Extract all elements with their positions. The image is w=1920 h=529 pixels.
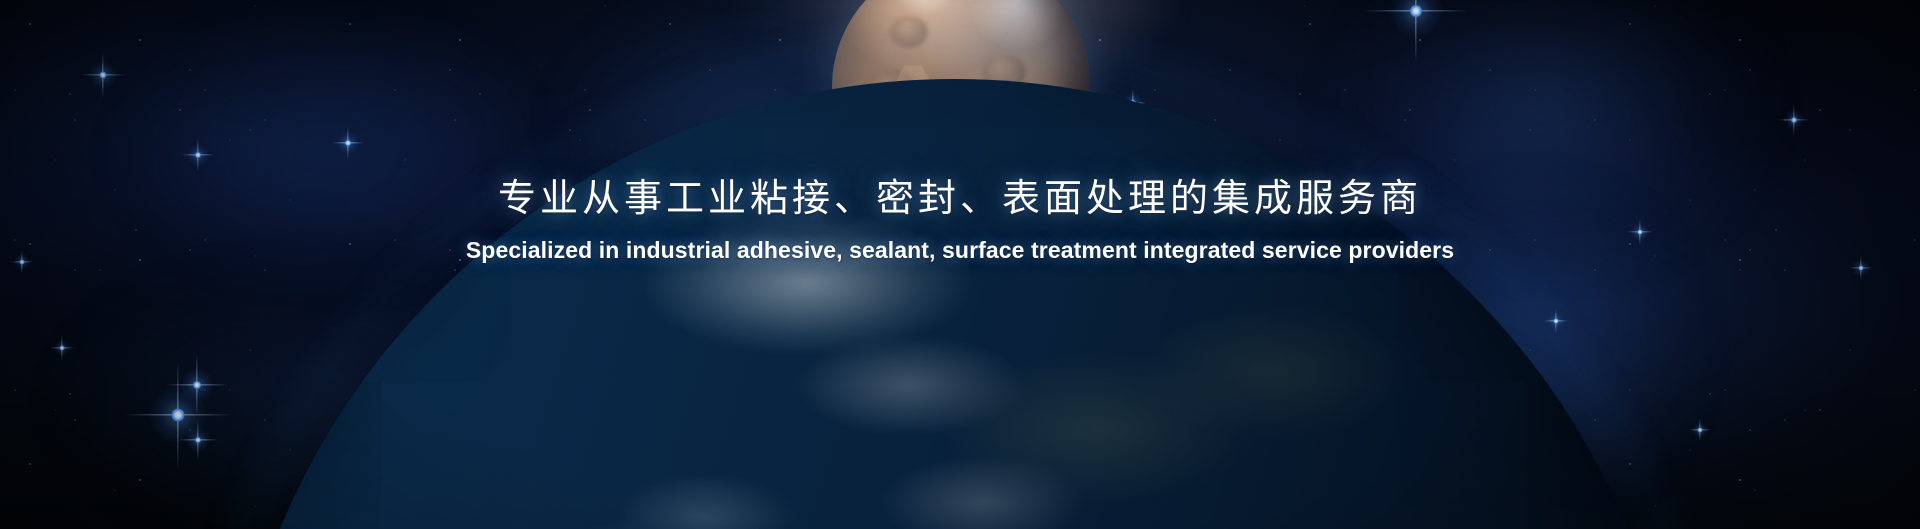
page-subtitle: Specialized in industrial adhesive, seal… (0, 237, 1920, 264)
hero-copy-block: 专业从事工业粘接、密封、表面处理的集成服务商 Specialized in in… (0, 176, 1920, 264)
earth-limb-hotspot (224, 79, 1684, 529)
hero-banner: 专业从事工业粘接、密封、表面处理的集成服务商 Specialized in in… (0, 0, 1920, 529)
earth-planet (224, 79, 1684, 529)
page-title: 专业从事工业粘接、密封、表面处理的集成服务商 (0, 176, 1920, 224)
